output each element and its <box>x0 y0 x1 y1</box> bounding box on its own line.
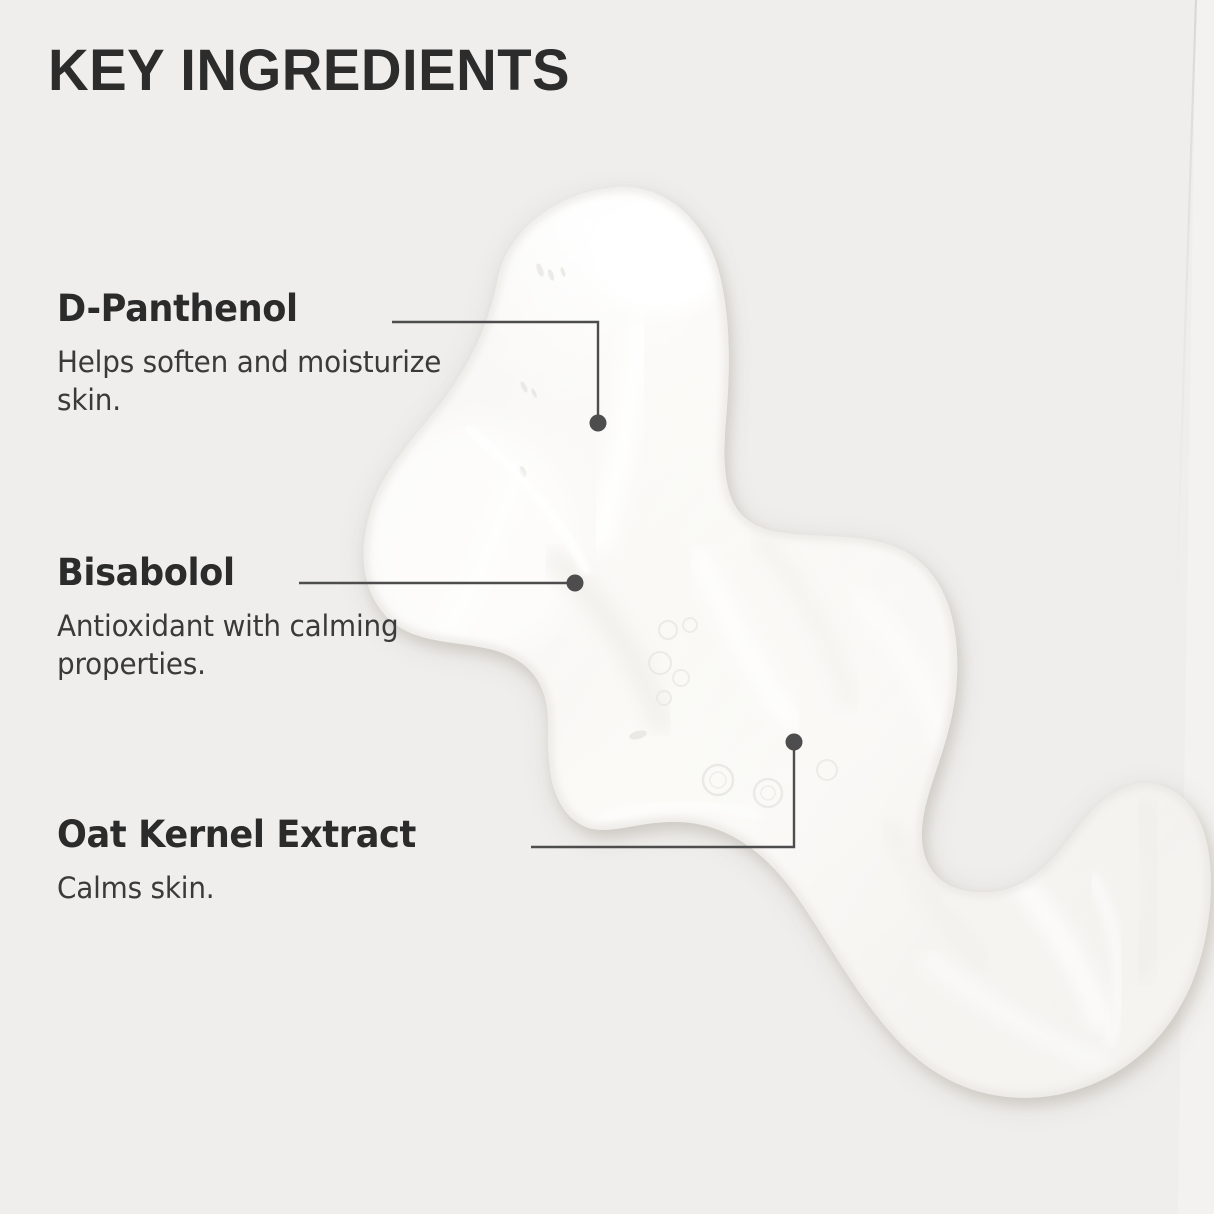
ingredient-description: Calms skin. <box>57 869 420 907</box>
leader-oat-kernel-extract <box>531 734 803 848</box>
key-ingredients-graphic: KEY INGREDIENTS D-Panthenol Helps soften… <box>0 0 1214 1214</box>
ingredient-callout-bisabolol: Bisabolol Antioxidant with calming prope… <box>57 554 527 683</box>
ingredient-callout-oat-kernel-extract: Oat Kernel Extract Calms skin. <box>57 816 435 907</box>
leader-dot <box>786 734 803 751</box>
ingredient-callout-d-panthenol: D-Panthenol Helps soften and moisturize … <box>57 290 527 419</box>
ingredient-name: D-Panthenol <box>57 290 504 329</box>
ingredient-description: Antioxidant with calming properties. <box>57 607 508 684</box>
ingredient-name: Bisabolol <box>57 554 504 593</box>
page-title: KEY INGREDIENTS <box>48 42 570 100</box>
ingredient-description: Helps soften and moisturize skin. <box>57 343 508 420</box>
ingredient-name: Oat Kernel Extract <box>57 816 416 855</box>
leader-dot <box>567 575 584 592</box>
leader-dot <box>590 415 607 432</box>
